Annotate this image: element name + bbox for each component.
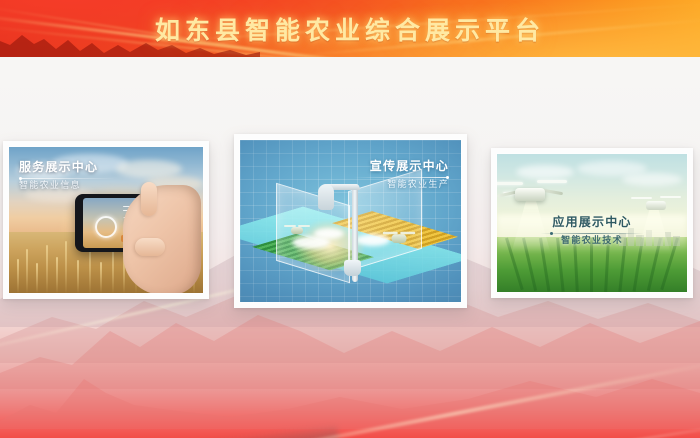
card-promotion-caption: 宣传展示中心 智能农业生产 [353, 160, 449, 191]
card-promotion-divider [353, 177, 449, 178]
card-application-divider [540, 233, 644, 234]
card-service-caption: 服务展示中心 智能农业信息 [19, 161, 115, 192]
card-application-caption: 应用展示中心 智能农业技术 [540, 216, 644, 247]
drone-large [496, 178, 567, 212]
card-service-title: 服务展示中心 [19, 161, 115, 174]
card-promotion-subtitle: 智能农业生产 [353, 181, 449, 191]
page-title: 如东县智能农业综合展示平台 [0, 0, 700, 57]
card-service-subtitle: 智能农业信息 [19, 182, 115, 192]
card-application-subtitle: 智能农业技术 [540, 237, 644, 247]
drone-icon-right [383, 231, 416, 246]
card-application-image: 应用展示中心 智能农业技术 [496, 153, 688, 293]
mountain-layer-foreground [0, 309, 700, 429]
card-service-image: 28° 服务展示中心 智能农业信息 [8, 146, 204, 294]
smart-lamp-head [318, 184, 334, 210]
header-banner: 如东县智能农业综合展示平台 [0, 0, 700, 57]
card-promotion-image: 宣传展示中心 智能农业生产 [239, 139, 462, 303]
app-stage: 如东县智能农业综合展示平台 [0, 0, 700, 438]
card-promotion-display-center[interactable]: 宣传展示中心 智能农业生产 [234, 134, 467, 308]
card-application-display-center[interactable]: 应用展示中心 智能农业技术 [491, 148, 693, 298]
drone-icon-left [284, 224, 310, 236]
card-service-display-center[interactable]: 28° 服务展示中心 智能农业信息 [3, 141, 209, 299]
equipment-bucket [344, 260, 361, 276]
card-promotion-title: 宣传展示中心 [353, 160, 449, 173]
card-service-divider [19, 178, 115, 179]
card-application-title: 应用展示中心 [540, 216, 644, 229]
